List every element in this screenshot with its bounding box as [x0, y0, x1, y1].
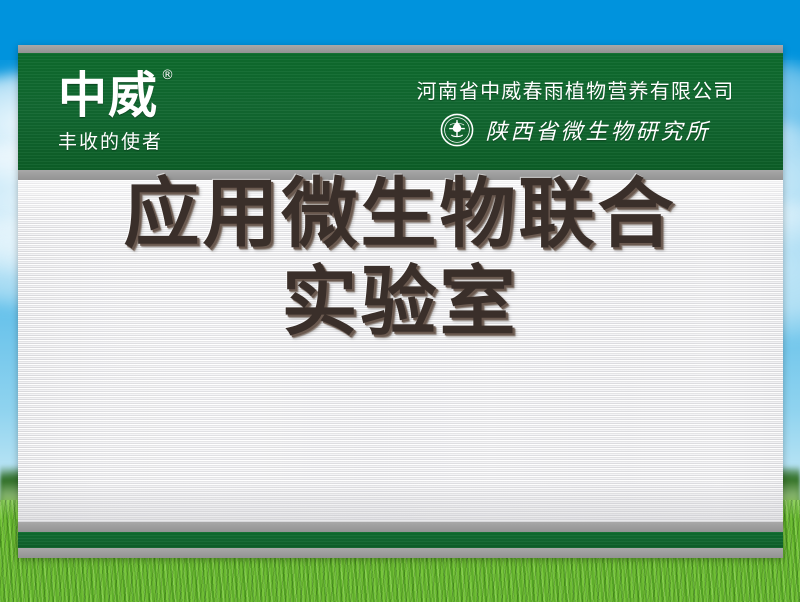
brand-logo-wordmark: 中威®	[58, 71, 158, 120]
panel-header-green-band: 中威® 丰收的使者 河南省中威春雨植物营养有限公司 陕西	[18, 53, 783, 170]
organization-block: 河南省中威春雨植物营养有限公司 陕西省微生物研究所	[398, 75, 753, 147]
brand-logo: 中威® 丰收的使者	[58, 71, 258, 154]
panel-top-gray-band	[18, 45, 783, 53]
panel-upper-divider-band	[18, 170, 783, 180]
panel-lower-divider-band	[18, 522, 783, 532]
institute-seal-icon	[440, 113, 474, 147]
registered-trademark-icon: ®	[161, 69, 175, 82]
slide-canvas: 中威® 丰收的使者 河南省中威春雨植物营养有限公司 陕西	[0, 0, 800, 602]
institute-name: 陕西省微生物研究所	[485, 114, 710, 146]
company-name: 河南省中威春雨植物营养有限公司	[398, 75, 753, 104]
brand-tagline: 丰收的使者	[58, 127, 258, 154]
institute-row: 陕西省微生物研究所	[398, 113, 753, 147]
brand-logo-text: 中威	[58, 67, 158, 124]
panel-bottom-gray-band	[18, 548, 783, 558]
brushed-metal-surface	[18, 180, 783, 522]
panel-footer-green-band	[18, 532, 783, 548]
signboard-panel: 中威® 丰收的使者 河南省中威春雨植物营养有限公司 陕西	[18, 45, 783, 558]
